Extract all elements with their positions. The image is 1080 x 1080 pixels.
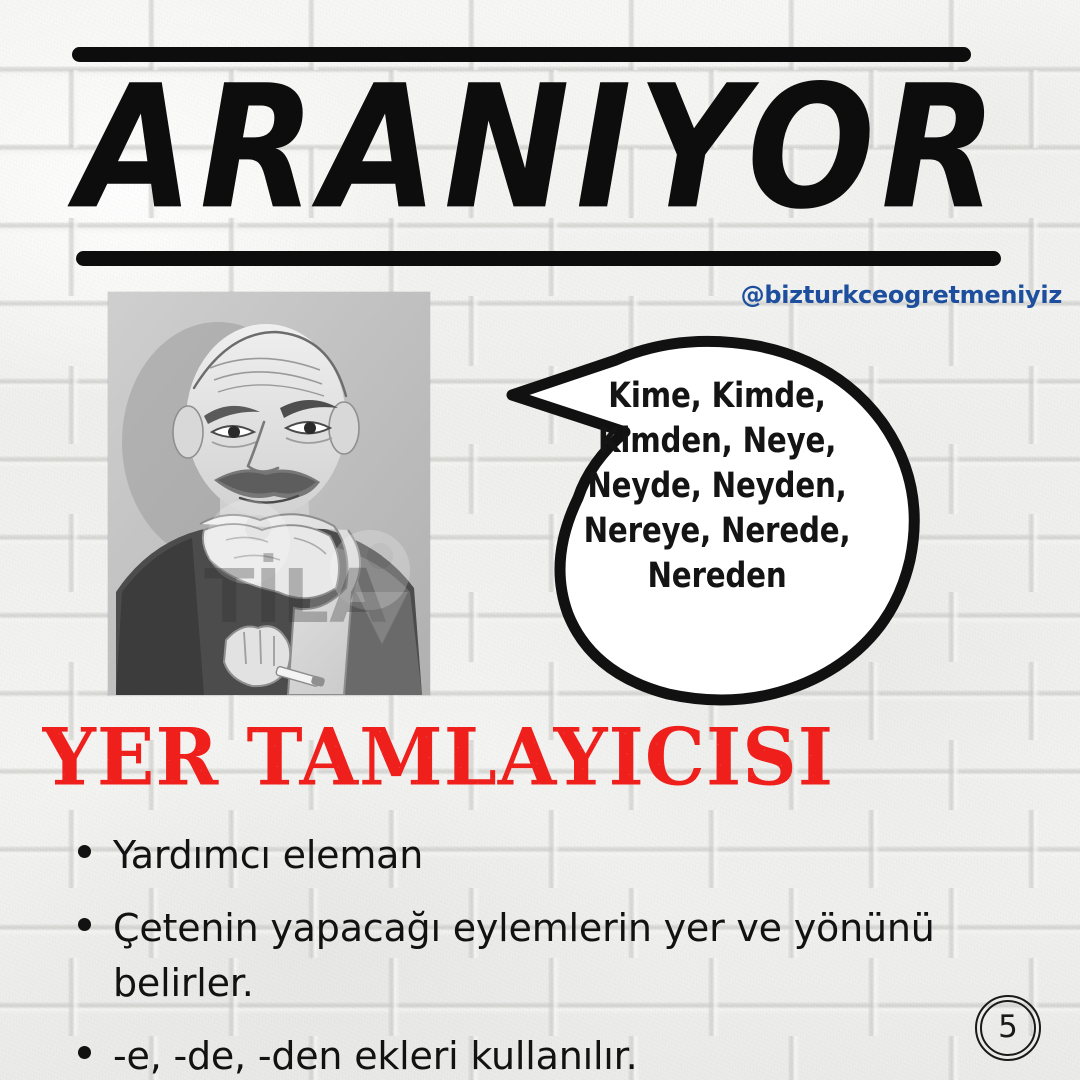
speech-bubble-line: Kime, Kimde, (569, 374, 865, 419)
section-heading: YER TAMLAYICISI (42, 716, 834, 801)
speech-bubble: Kime, Kimde,Kimden, Neye,Neyde, Neyden,N… (440, 322, 940, 710)
speech-bubble-line: Kimden, Neye, (569, 419, 865, 464)
list-item: Yardımcı eleman (78, 828, 988, 883)
speech-bubble-text: Kime, Kimde,Kimden, Neye,Neyde, Neyden,N… (569, 374, 865, 599)
speech-bubble-line: Nereye, Nerede, (569, 509, 865, 554)
list-item: -e, -de, -den ekleri kullanılır. (78, 1029, 988, 1080)
page-title: ARANIYOR (5, 47, 1074, 249)
page-number: 5 (975, 995, 1041, 1061)
bullet-dot-icon (78, 845, 91, 858)
list-item-label: Yardımcı eleman (113, 828, 423, 883)
list-item-label: -e, -de, -den ekleri kullanılır. (113, 1029, 637, 1080)
title-rule-bottom (76, 251, 1001, 266)
speech-bubble-line: Neyde, Neyden, (569, 464, 865, 509)
title-block: ARANIYOR (0, 0, 1080, 278)
bullet-dot-icon (78, 918, 91, 931)
speech-bubble-line: Nereden (569, 554, 865, 599)
character-portrait: TİLA (108, 292, 430, 695)
list-item: Çetenin yapacağı eylemlerin yer ve yönün… (78, 901, 988, 1011)
bullet-dot-icon (78, 1046, 91, 1059)
bullet-list: Yardımcı eleman Çetenin yapacağı eylemle… (78, 828, 988, 1080)
list-item-label: Çetenin yapacağı eylemlerin yer ve yönün… (113, 901, 988, 1011)
social-handle[interactable]: @bizturkceogretmeniyiz (741, 281, 1062, 309)
page-number-badge: 5 (975, 995, 1041, 1061)
